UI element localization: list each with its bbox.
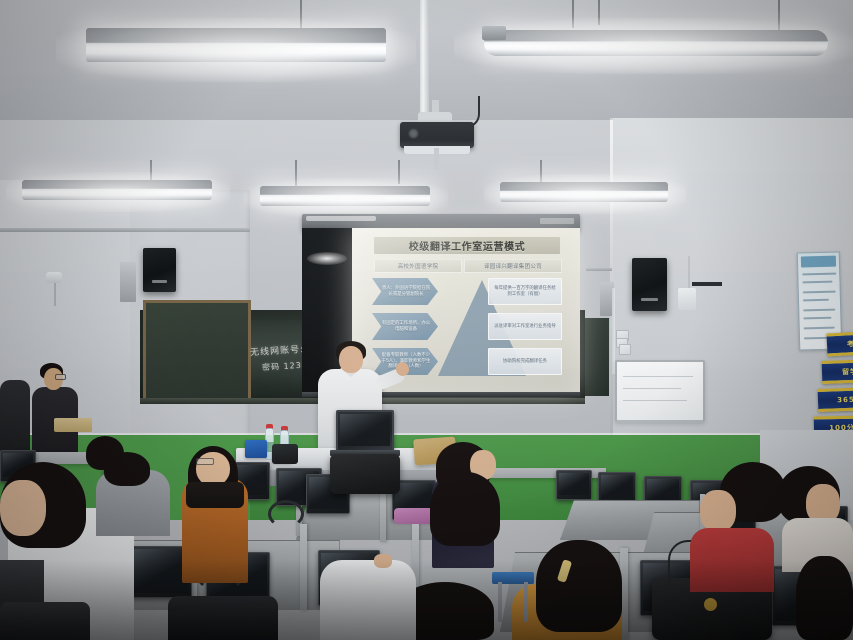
ceiling-support-pole <box>420 0 429 118</box>
slide-chevron-2: 有固定的工作场所，办公电脑和设备 <box>372 313 438 340</box>
lab-monitor <box>598 472 636 504</box>
slide-box-2: 派驻译审对工作室进行业务指导 <box>488 313 562 340</box>
laptop-display <box>340 414 390 446</box>
light-hanger <box>150 160 152 182</box>
attendee-hair <box>536 540 622 632</box>
wall-fixture <box>46 272 62 283</box>
eyeglasses <box>55 374 66 380</box>
small-whiteboard <box>615 360 705 422</box>
radiator-panel <box>54 418 92 432</box>
handbag-clasp <box>704 598 717 611</box>
slide-chevron-1: 责人：外国语学院担任院长或是分管副院长 <box>372 278 438 305</box>
attendee-body <box>690 528 774 592</box>
projector-pole-lower <box>434 148 439 170</box>
speaker-badge <box>152 280 167 283</box>
attendee-body <box>320 560 416 640</box>
ceiling-light-3 <box>22 180 212 200</box>
ceiling-light-1 <box>86 28 386 62</box>
light-hanger <box>398 160 400 184</box>
light-hanger <box>598 0 600 25</box>
slide-header-right: 译园译兴翻译集团公司 <box>464 259 562 273</box>
wall-outlet <box>619 344 631 355</box>
attendee-hair <box>430 472 500 546</box>
light-hanger <box>300 0 302 30</box>
projection-screen: 校级翻译工作室运营模式 高校外国语学院 译园译兴翻译集团公司 责人：外国语学院担… <box>352 228 580 393</box>
slide-box-3: 协助院校完成翻译任务 <box>488 348 562 375</box>
slide-box-1: 每年提供一百万字的翻译任务给到工作室（有偿） <box>488 278 562 305</box>
poster-heading-bar <box>801 256 836 268</box>
screen-case-highlight <box>306 216 376 221</box>
ceiling-light-5 <box>500 182 668 202</box>
attendee-hair <box>796 556 853 640</box>
eyeglasses <box>196 458 214 465</box>
equipment-box <box>272 444 298 464</box>
wall-trim-left <box>0 228 250 232</box>
stool-leg <box>498 582 502 622</box>
attendee-hair <box>86 436 124 470</box>
speaker-bracket-left <box>120 262 136 302</box>
blue-box <box>245 440 267 458</box>
presenter-laptop-screen <box>336 410 394 452</box>
headset <box>268 500 304 528</box>
light-hanger <box>295 160 297 188</box>
projector-lens-icon <box>408 128 419 139</box>
lab-monitor <box>556 470 592 500</box>
left-wall-speaker <box>143 248 176 292</box>
presenter-head <box>339 346 363 373</box>
screen-case-brand-label <box>540 218 574 224</box>
classroom-photo: 考研 留学 365 100分 无线网账号:203 密码 12345678 校级翻… <box>0 0 853 640</box>
light-hanger <box>778 0 780 30</box>
dark-bag-on-desk <box>330 454 400 494</box>
wall-banner: 365 <box>818 387 853 412</box>
slide-title: 校级翻译工作室运营模式 <box>374 237 560 254</box>
attendee-face <box>0 480 46 536</box>
wall-trim-right <box>586 268 612 271</box>
ceiling-light-4 <box>260 186 430 206</box>
cubicle-divider <box>300 524 307 610</box>
light-endcap <box>482 26 506 40</box>
speaker-badge <box>641 298 658 301</box>
ceiling-light-2 <box>484 30 828 56</box>
blackboard-right-panel <box>585 318 609 396</box>
light-hanger <box>540 160 542 184</box>
wall-bracket <box>692 282 722 286</box>
light-hanger <box>572 0 574 28</box>
attendee-silhouette <box>0 602 90 640</box>
slide-header-left: 高校外国语学院 <box>374 259 462 273</box>
right-wall-speaker <box>632 258 667 311</box>
stool-leg <box>524 582 528 622</box>
attendee-face <box>700 490 736 532</box>
attendee-inner-top <box>186 482 244 508</box>
speaker-cable <box>688 256 690 290</box>
attendee-hand <box>374 554 392 568</box>
blackboard-left-panel <box>143 300 251 402</box>
attendee-silhouette <box>168 596 278 640</box>
wall-banner: 考研 <box>826 331 853 357</box>
whiteboard-tray <box>617 420 703 424</box>
wall-banner: 留学 <box>822 359 853 384</box>
wall-box <box>678 288 696 310</box>
screen-light-flare <box>307 252 347 265</box>
presentation-slide: 校级翻译工作室运营模式 高校外国语学院 译园译兴翻译集团公司 责人：外国语学院担… <box>352 228 580 393</box>
